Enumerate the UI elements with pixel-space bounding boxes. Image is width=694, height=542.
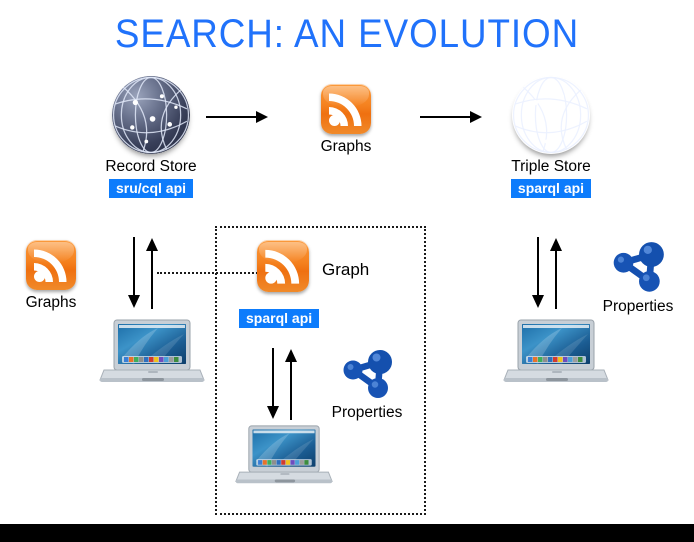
node-label: Properties: [588, 298, 688, 316]
node-triple-store[interactable]: Triple Store sparql api: [486, 76, 616, 198]
node-label: Record Store: [86, 158, 216, 176]
node-label-graph: Graph: [322, 260, 369, 280]
status-badge: sru/cql api: [109, 179, 193, 198]
status-badge: sparql api: [239, 309, 319, 328]
bidirectional-arrows-icon-right: [531, 237, 563, 309]
bidirectional-arrows-icon-left: [127, 237, 159, 309]
node-label: Triple Store: [486, 158, 616, 176]
arrow-right-icon: [206, 108, 268, 126]
network-globe-icon-2: [512, 76, 590, 154]
node-graph-center[interactable]: [253, 240, 313, 292]
node-graphs-top[interactable]: Graphs: [300, 84, 392, 156]
molecule-icon-center: [338, 348, 396, 400]
laptop-icon-left[interactable]: [98, 318, 206, 386]
status-badge-wrap: sparql api: [239, 306, 319, 328]
rss-feed-icon: [321, 84, 371, 134]
rss-feed-icon-center: [257, 240, 309, 292]
molecule-icon-right: [608, 240, 668, 294]
bidirectional-arrows-icon-center: [266, 348, 298, 420]
node-record-store[interactable]: Record Store sru/cql api: [86, 76, 216, 198]
page-title: SEARCH: AN EVOLUTION: [28, 12, 666, 57]
arrow-right-icon-2: [420, 108, 482, 126]
node-label: Graphs: [300, 138, 392, 156]
node-label: Properties: [320, 404, 414, 422]
node-properties-center[interactable]: Properties: [320, 348, 414, 422]
laptop-icon-right[interactable]: [502, 318, 610, 386]
status-badge: sparql api: [511, 179, 591, 198]
footer-bar: [0, 524, 694, 542]
node-graphs-left[interactable]: Graphs: [8, 240, 94, 312]
node-properties-right[interactable]: Properties: [588, 240, 688, 316]
node-label: Graphs: [8, 294, 94, 312]
slide-canvas: SEARCH: AN EVOLUTION: [0, 0, 694, 542]
laptop-icon-center[interactable]: [234, 424, 334, 488]
rss-feed-icon-left: [26, 240, 76, 290]
network-globe-icon: [112, 76, 190, 154]
